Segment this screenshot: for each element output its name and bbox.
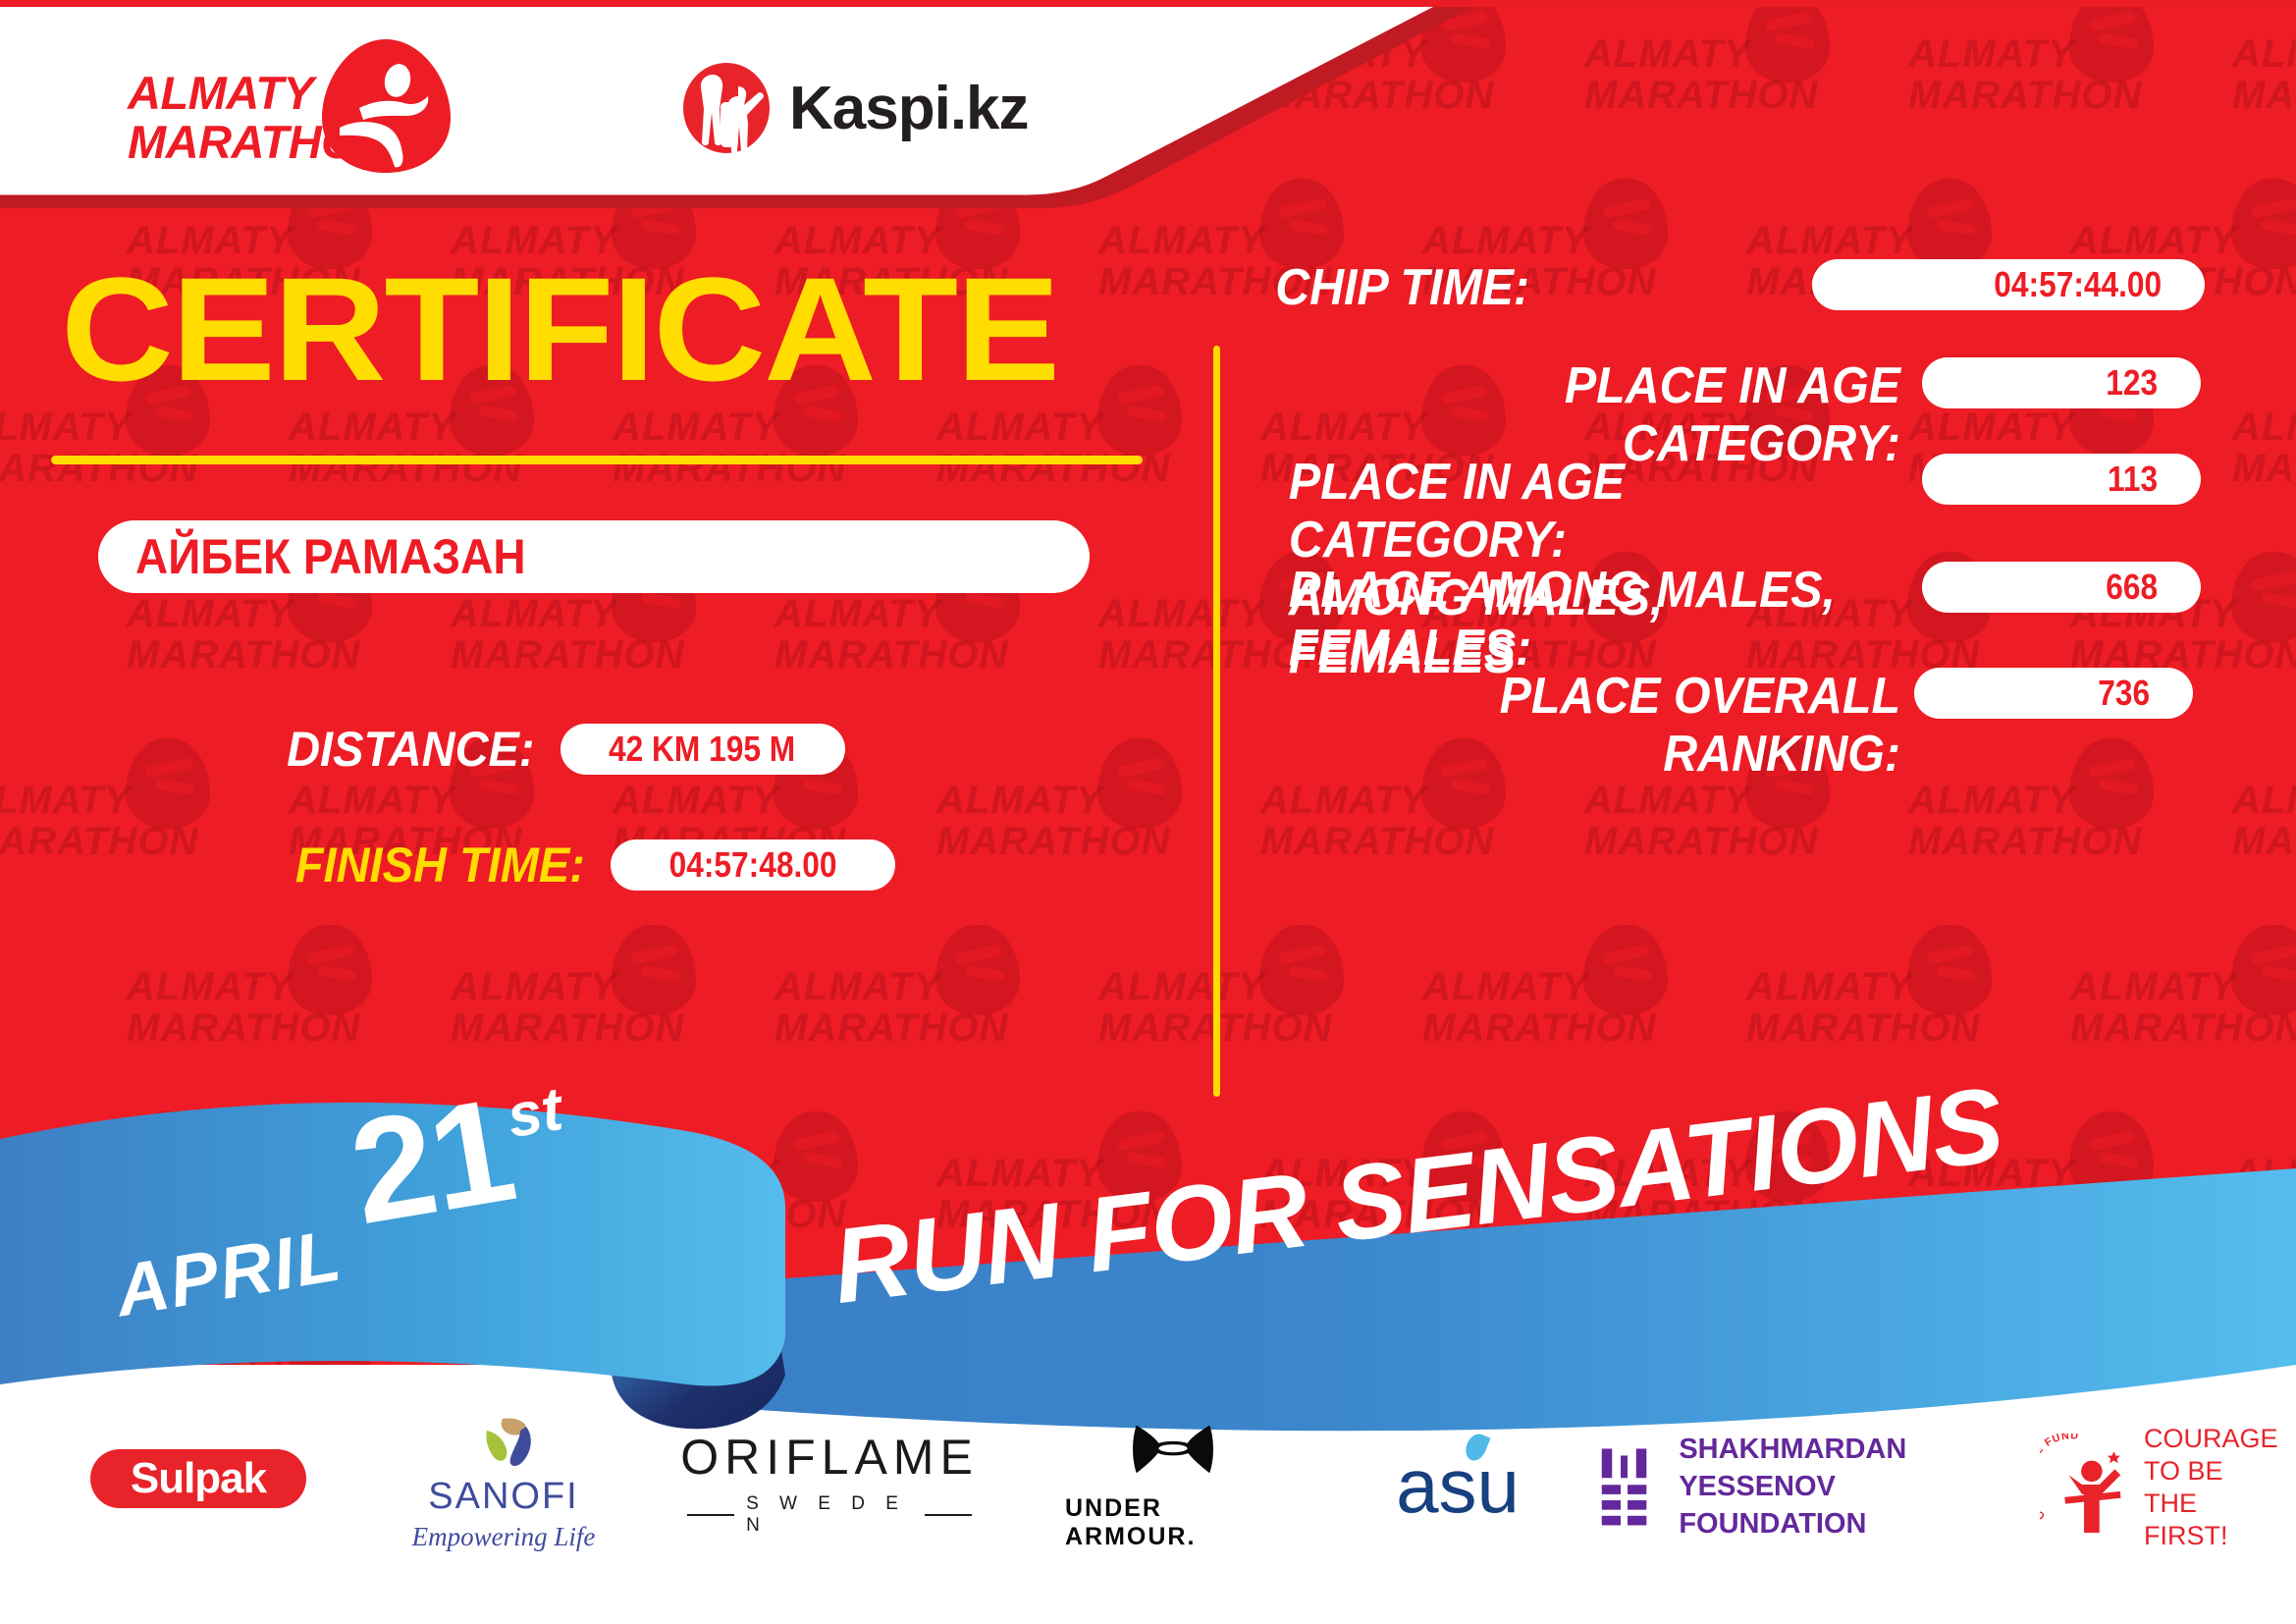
sanofi-mark-icon [469, 1417, 538, 1470]
distance-label: DISTANCE: [287, 721, 534, 778]
chip-time-value: 04:57:44.00 [1994, 264, 2162, 305]
place-among-gender-row: PLACE AMONG MALES, FEMALES: 668 [1237, 562, 2218, 677]
kaspi-wordmark: Kaspi.kz [789, 74, 1029, 143]
certificate-canvas: ALMATYMARATHONALMATYMARATHONALMATYMARATH… [0, 0, 2296, 1624]
participant-name-value: АЙБЕК РАМАЗАН [135, 528, 526, 585]
sanofi-tagline: Empowering Life [412, 1522, 596, 1552]
watermark-tile: ALMATYMARATHON [1904, 0, 2228, 157]
sponsor-logo-bar: Sulpak SANOFI Empowering Life ORIFLAME S… [0, 1406, 2296, 1624]
title-underline-rule [51, 456, 1143, 464]
asu-wordmark: asu [1396, 1441, 1520, 1531]
sponsor-logo-sulpak: Sulpak [90, 1449, 306, 1508]
watermark-text: ALMATYMARATHON [1908, 33, 2142, 116]
yessenov-line-2: FOUNDATION [1679, 1505, 2022, 1543]
courage-fund-wordmark: COURAGE TO BE THE FIRST! [2144, 1423, 2285, 1552]
kaspi-logo: Kaspi.kz [677, 61, 1029, 155]
place-among-gender-value-pill: 668 [1922, 562, 2201, 613]
courage-fund-runner-icon: CORPORATE FUND [2040, 1434, 2132, 1542]
certificate-left-column: CERTIFICATE АЙБЕК РАМАЗАН DISTANCE: 42 K… [0, 208, 1198, 1190]
results-column: CHIP TIME: 04:57:44.00 PLACE IN AGE CATE… [1237, 208, 2296, 1190]
sponsor-logo-under-armour: UNDER ARMOUR. [1065, 1424, 1281, 1551]
oriflame-tagline: S W E D E N [687, 1493, 972, 1537]
finish-time-row: FINISH TIME: 04:57:48.00 [277, 837, 895, 893]
watermark-tile: ALMATYMARATHON [1580, 0, 1904, 157]
sponsor-logo-yessenov-foundation: SHAKHMARDAN YESSENOV FOUNDATION [1600, 1428, 2022, 1545]
sponsor-logo-courage-fund: CORPORATE FUND COURAGE TO BE THE FIRST! [2040, 1424, 2285, 1551]
sponsor-logo-sanofi: SANOFI Empowering Life [410, 1416, 597, 1553]
yellow-vertical-divider [1213, 346, 1220, 1097]
finish-time-value-pill: 04:57:48.00 [611, 839, 895, 891]
place-overall-row: PLACE OVERALL RANKING: 736 [1237, 668, 2218, 784]
place-among-gender-value: 668 [2106, 567, 2158, 608]
courage-line-3: THE FIRST! [2144, 1488, 2285, 1552]
place-overall-value: 736 [2098, 673, 2150, 714]
place-age-category-value-pill: 123 [1922, 357, 2201, 408]
under-armour-icon [1124, 1424, 1222, 1483]
oriflame-wordmark: ORIFLAME [680, 1429, 979, 1486]
place-overall-value-pill: 736 [1914, 668, 2193, 719]
under-armour-wordmark: UNDER ARMOUR. [1065, 1494, 1281, 1551]
almaty-marathon-logo: ALMATY MARATHON [118, 37, 452, 170]
chip-time-value-pill: 04:57:44.00 [1812, 259, 2205, 310]
place-age-category-gender-value: 113 [2108, 459, 2158, 500]
sponsor-logo-asu: asu [1364, 1441, 1551, 1530]
finish-time-value: 04:57:48.00 [668, 844, 836, 886]
label-line-1: PLACE AMONG MALES, [1289, 562, 1900, 620]
distance-value: 42 KM 195 M [609, 729, 795, 770]
courage-line-2: TO BE [2144, 1455, 2285, 1488]
sponsor-logo-oriflame: ORIFLAME S W E D E N [687, 1437, 972, 1528]
watermark-drop-icon [1745, 0, 1830, 82]
sanofi-wordmark: SANOFI [428, 1476, 578, 1518]
kaspi-people-icon [677, 61, 775, 155]
courage-fund-arc-text: CORPORATE FUND [2040, 1434, 2079, 1522]
yessenov-bars-icon [1600, 1441, 1653, 1532]
place-age-category-value: 123 [2106, 362, 2158, 404]
sulpak-wordmark: Sulpak [131, 1454, 266, 1503]
watermark-text: ALMATYMARATHON [1584, 33, 1818, 116]
chip-time-row: CHIP TIME: 04:57:44.00 [1237, 259, 2218, 317]
label-line-1: PLACE IN AGE CATEGORY: [1289, 454, 1900, 569]
place-age-category-gender-value-pill: 113 [1922, 454, 2201, 505]
running-drop-icon [320, 37, 453, 175]
yessenov-line-1: SHAKHMARDAN YESSENOV [1679, 1431, 2022, 1505]
chip-time-label: CHIP TIME: [1275, 259, 1787, 317]
watermark-tile: ALMATYMARATHON [2228, 0, 2296, 157]
asu-droplet-icon [1463, 1431, 1491, 1463]
ribbon-date-suffix: st [503, 1074, 567, 1152]
distance-value-pill: 42 KM 195 M [561, 724, 845, 775]
svg-text:CORPORATE FUND: CORPORATE FUND [2040, 1434, 2079, 1522]
finish-time-label: FINISH TIME: [295, 837, 585, 893]
yessenov-wordmark: SHAKHMARDAN YESSENOV FOUNDATION [1679, 1431, 2022, 1543]
courage-line-1: COURAGE [2144, 1423, 2285, 1455]
watermark-text: ALMATYMARATHON [2232, 33, 2296, 116]
header-logos: ALMATY MARATHON Kaspi.kz [0, 0, 1472, 208]
place-overall-label: PLACE OVERALL RANKING: [1283, 668, 1900, 784]
watermark-drop-icon [2069, 0, 2154, 82]
participant-name-field: АЙБЕК РАМАЗАН [98, 520, 1090, 593]
certificate-title: CERTIFICATE [61, 255, 1058, 403]
ribbon-date-day: 21 [342, 1075, 521, 1246]
place-among-gender-label: PLACE AMONG MALES, FEMALES: [1283, 562, 1900, 677]
distance-row: DISTANCE: 42 KM 195 M [271, 721, 845, 778]
